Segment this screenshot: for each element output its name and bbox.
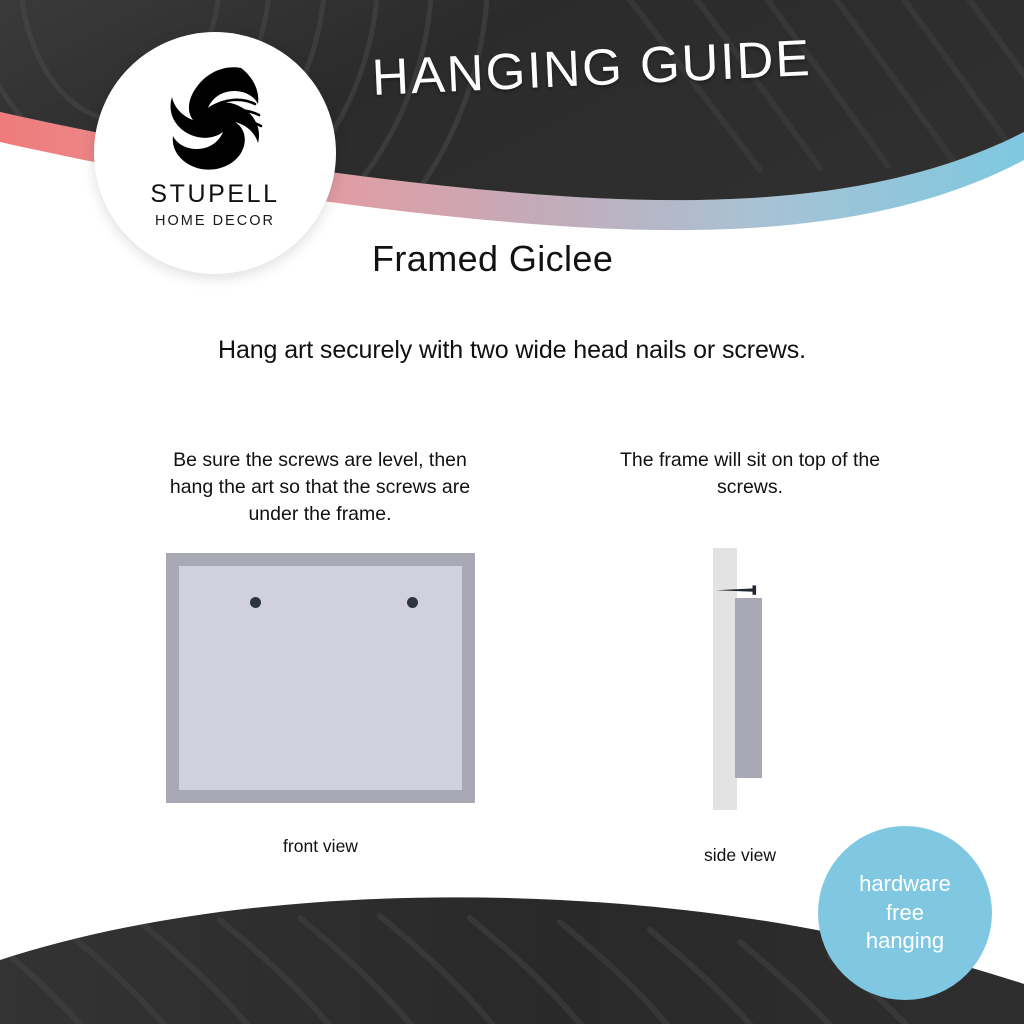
front-view-mat — [179, 566, 462, 790]
side-view-instruction: The frame will sit on top of the screws. — [600, 447, 900, 501]
hanging-guide-page: HANGING GUIDE STUPELL HOME DECOR Framed … — [0, 0, 1024, 1024]
side-view-diagram — [705, 548, 775, 810]
front-view-instruction: Be sure the screws are level, then hang … — [150, 447, 490, 528]
badge-line-2: free — [886, 899, 924, 928]
bottom-wave-texture — [0, 916, 960, 1024]
front-view-diagram — [166, 553, 475, 803]
brand-subtitle: HOME DECOR — [155, 214, 275, 229]
badge-line-1: hardware — [859, 870, 951, 899]
side-view-frame-panel — [735, 598, 762, 778]
screw-hole-right-icon — [407, 597, 418, 608]
page-title: HANGING GUIDE — [371, 24, 893, 107]
nail-icon — [714, 584, 764, 596]
screw-hole-left-icon — [250, 597, 261, 608]
brand-name: STUPELL — [150, 182, 279, 207]
badge-line-3: hanging — [866, 927, 944, 956]
front-view-caption: front view — [166, 836, 475, 857]
product-name: Framed Giclee — [372, 238, 613, 280]
stupell-swirl-logo-icon — [154, 58, 276, 176]
brand-logo-badge: STUPELL HOME DECOR — [94, 32, 336, 274]
side-view-caption: side view — [650, 845, 830, 866]
tagline: Hang art securely with two wide head nai… — [0, 336, 1024, 365]
hardware-free-badge: hardware free hanging — [818, 826, 992, 1000]
